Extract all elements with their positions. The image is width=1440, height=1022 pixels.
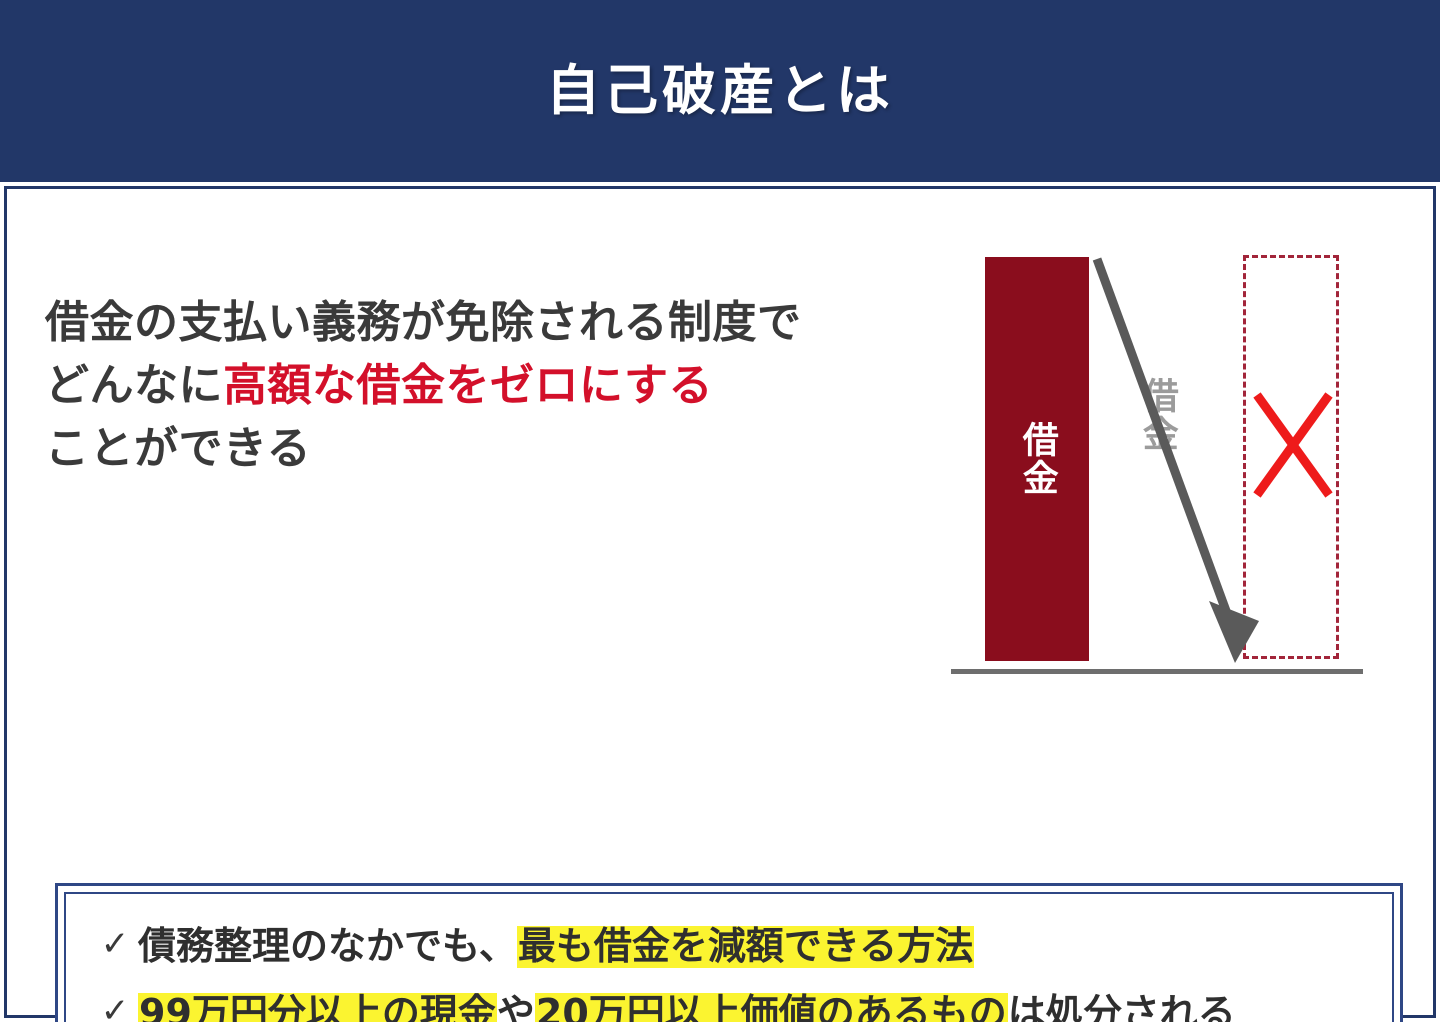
list-item-text: 債務整理のなかでも、最も借金を減額できる方法 <box>138 924 976 969</box>
list-item-highlight-1: 最も借金を減額できる方法 <box>517 924 974 968</box>
checklist-inner-frame: ✓ 債務整理のなかでも、最も借金を減額できる方法 ✓ 99万円分以上の現金や20… <box>64 892 1394 1022</box>
check-icon: ✓ <box>92 924 138 964</box>
diagram-overlay <box>947 249 1367 674</box>
check-icon: ✓ <box>92 991 138 1022</box>
checklist-box: ✓ 債務整理のなかでも、最も借金を減額できる方法 ✓ 99万円分以上の現金や20… <box>55 883 1403 1022</box>
diagram-baseline <box>951 669 1363 674</box>
list-item-highlight-2 <box>974 924 976 968</box>
slide-root: 自己破産とは 借金の支払い義務が免除される制度で どんなに高額な借金をゼロにする… <box>0 0 1440 1022</box>
cancel-cross-icon <box>1257 395 1329 495</box>
lead-line-3: ことができる <box>45 418 945 481</box>
list-item-text: 99万円分以上の現金や20万円以上価値のあるものは処分される <box>138 991 1236 1022</box>
list-item: ✓ 債務整理のなかでも、最も借金を減額できる方法 <box>92 924 1366 969</box>
slide-header-band: 自己破産とは <box>0 0 1440 182</box>
debt-reduction-diagram: 借金 借金 <box>947 249 1367 674</box>
list-item: ✓ 99万円分以上の現金や20万円以上価値のあるものは処分される <box>92 991 1366 1022</box>
lead-line-2-plain: どんなに <box>45 360 223 411</box>
list-item-plain-middle: や <box>497 991 535 1022</box>
page-title: 自己破産とは <box>546 64 894 118</box>
down-arrow-icon <box>1097 259 1259 663</box>
list-item-plain-before: 債務整理のなかでも、 <box>138 924 517 968</box>
list-item-highlight-2: 20万円以上価値のあるもの <box>535 991 1008 1022</box>
list-item-plain-after: は処分される <box>1008 991 1236 1022</box>
lead-line-2: どんなに高額な借金をゼロにする <box>45 355 945 418</box>
body-panel: 借金の支払い義務が免除される制度で どんなに高額な借金をゼロにする ことができる… <box>4 186 1436 1018</box>
lead-line-1: 借金の支払い義務が免除される制度で <box>45 292 945 355</box>
lead-paragraph: 借金の支払い義務が免除される制度で どんなに高額な借金をゼロにする ことができる <box>45 292 945 481</box>
lead-line-2-accent: 高額な借金をゼロにする <box>223 360 713 411</box>
list-item-highlight-1: 99万円分以上の現金 <box>138 991 497 1022</box>
